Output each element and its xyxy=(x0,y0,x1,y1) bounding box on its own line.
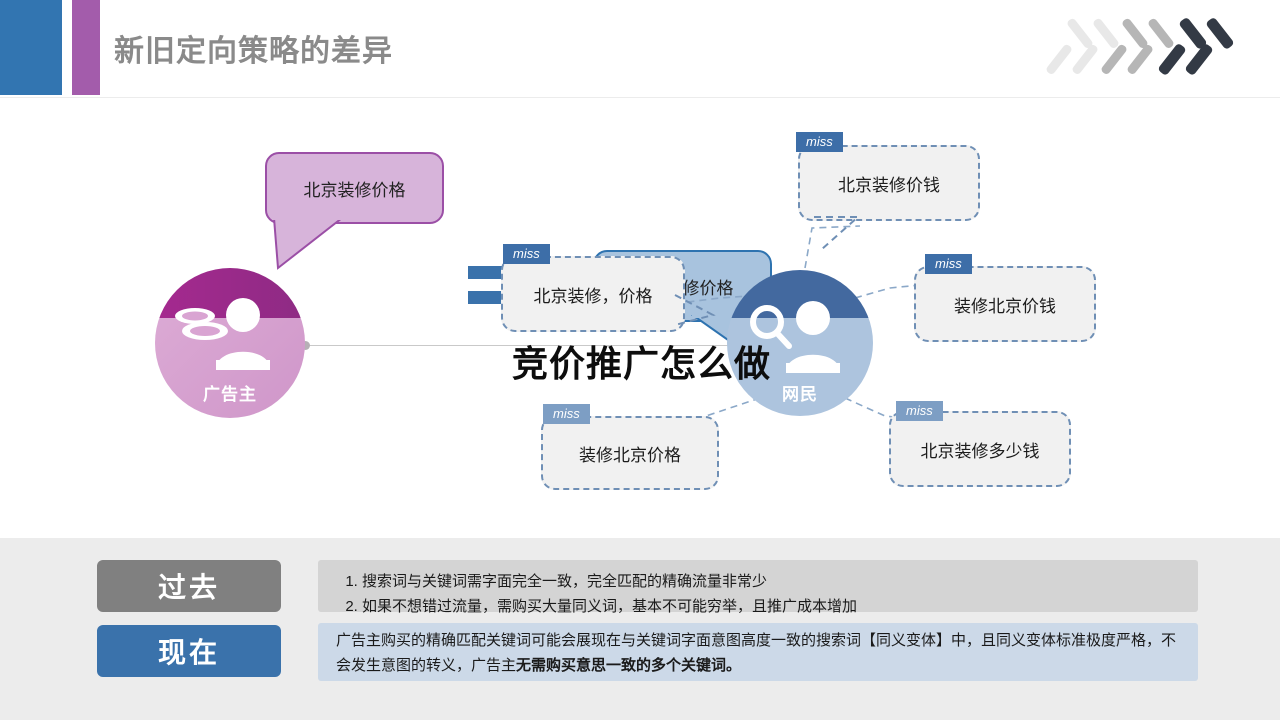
past-panel-text: 搜索词与关键词需字面完全一致，完全匹配的精确流量非常少 如果不想错过流量，需购买… xyxy=(336,569,1184,619)
diagram-stage: 北京装修价格 北京装修价格 xyxy=(0,98,1280,538)
past-tag: 过去 xyxy=(97,560,281,612)
now-panel-text-normal: 广告主购买的精确匹配关键词可能会展现在与关键词字面意图高度一致的搜索词【同义变体… xyxy=(336,632,1176,674)
now-tag: 现在 xyxy=(97,625,281,677)
page-header: 新旧定向策略的差异 xyxy=(0,0,1280,98)
advertiser-label: 广告主 xyxy=(155,380,305,405)
past-list-item: 搜索词与关键词需字面完全一致，完全匹配的精确流量非常少 xyxy=(362,569,1184,594)
now-panel-text: 广告主购买的精确匹配关键词可能会展现在与关键词字面意图高度一致的搜索词【同义变体… xyxy=(336,628,1184,678)
past-tag-label: 过去 xyxy=(158,566,220,606)
miss-bubble-5-text: 北京装修多少钱 xyxy=(891,413,1069,485)
miss-bubble-2-tag: miss xyxy=(503,244,550,264)
miss-bubble-1-tail-icon xyxy=(812,215,872,255)
miss-bubble-5-tag: miss xyxy=(896,401,943,421)
miss-bubble-2-tail-icon xyxy=(673,293,721,331)
now-panel-text-bold: 无需购买意思一致的多个关键词。 xyxy=(516,657,741,674)
miss-bubble-1-text: 北京装修价钱 xyxy=(800,147,978,219)
miss-bubble-4-tag: miss xyxy=(543,404,590,424)
comparison-section: 过去 搜索词与关键词需字面完全一致，完全匹配的精确流量非常少 如果不想错过流量，… xyxy=(0,538,1280,720)
miss-bubble-4-text: 装修北京价格 xyxy=(543,418,717,488)
bubble-advertiser-tail-icon xyxy=(268,216,358,276)
advertiser-node[interactable]: 广告主 xyxy=(155,268,305,418)
miss-bubble-3-text: 装修北京价钱 xyxy=(916,268,1094,340)
page-title: 新旧定向策略的差异 xyxy=(114,26,393,70)
now-panel: 广告主购买的精确匹配关键词可能会展现在与关键词字面意图高度一致的搜索词【同义变体… xyxy=(318,623,1198,681)
miss-bubble-2-text: 北京装修，价格 xyxy=(503,258,683,330)
watermark-text: 竞价推广怎么做 xyxy=(512,335,771,387)
miss-bubble-1-tag: miss xyxy=(796,132,843,152)
bubble-advertiser-keyword: 北京装修价格 xyxy=(265,152,444,224)
past-list-item: 如果不想错过流量，需购买大量同义词，基本不可能穷举，且推广成本增加 xyxy=(362,594,1184,619)
past-panel: 搜索词与关键词需字面完全一致，完全匹配的精确流量非常少 如果不想错过流量，需购买… xyxy=(318,560,1198,612)
bubble-advertiser-keyword-text: 北京装修价格 xyxy=(304,176,406,201)
header-accent-bar-purple xyxy=(72,0,100,95)
now-tag-label: 现在 xyxy=(158,631,220,671)
past-list: 搜索词与关键词需字面完全一致，完全匹配的精确流量非常少 如果不想错过流量，需购买… xyxy=(336,569,1184,619)
miss-bubble-3-tag: miss xyxy=(925,254,972,274)
header-accent-bar-blue xyxy=(0,0,62,95)
